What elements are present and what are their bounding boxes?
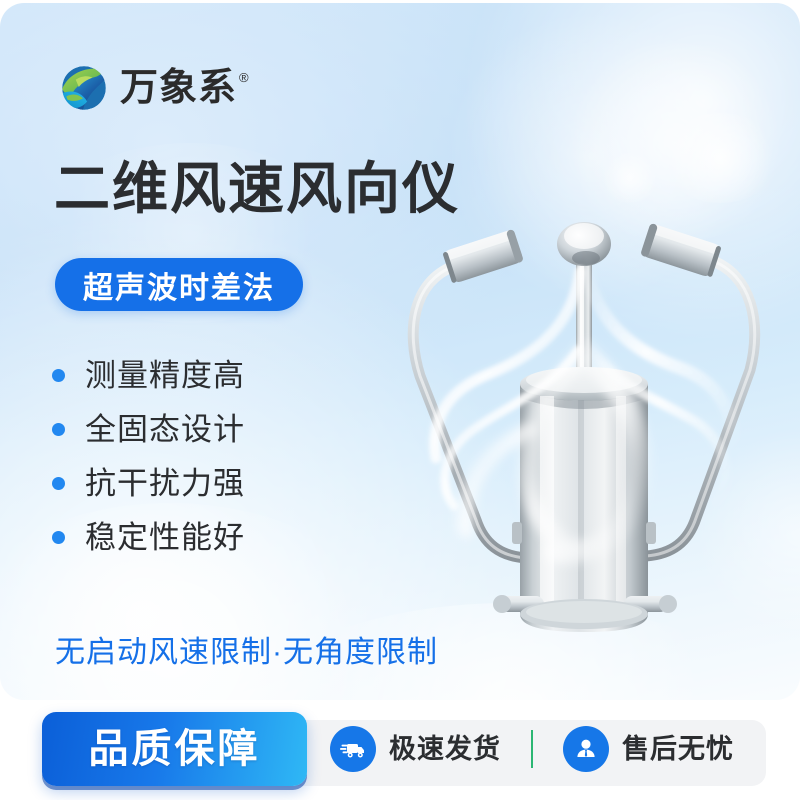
list-item: 稳定性能好 <box>52 522 245 553</box>
brand-name: 万象系 <box>120 69 237 107</box>
list-item: 全固态设计 <box>52 414 245 445</box>
trademark-symbol: ® <box>239 71 249 84</box>
feature-list: 测量精度高 全固态设计 抗干扰力强 稳定性能好 <box>52 360 245 553</box>
bullet-dot-icon <box>52 423 65 436</box>
trust-item-label: 极速发货 <box>389 736 501 763</box>
bullet-dot-icon <box>52 477 65 490</box>
brand-logo: 万象系 ® <box>58 62 249 114</box>
feature-label: 全固态设计 <box>85 414 245 445</box>
cloud-decoration <box>600 153 660 203</box>
delivery-truck-icon <box>330 726 376 772</box>
trust-item-after-sales[interactable]: 售后无忧 <box>563 726 734 772</box>
trust-item-fast-delivery[interactable]: 极速发货 <box>330 726 501 772</box>
cloud-decoration <box>700 423 800 643</box>
brand-wordmark: 万象系 ® <box>120 69 249 107</box>
quality-assurance-label: 品质保障 <box>89 729 261 769</box>
cloud-decoration <box>560 43 790 243</box>
trust-item-label: 售后无忧 <box>622 736 734 763</box>
feature-label: 抗干扰力强 <box>85 468 245 499</box>
customer-service-person-icon <box>563 726 609 772</box>
feature-label: 稳定性能好 <box>85 522 245 553</box>
bullet-dot-icon <box>52 369 65 382</box>
list-item: 抗干扰力强 <box>52 468 245 499</box>
subtitle-badge: 超声波时差法 <box>55 258 303 311</box>
page-title: 二维风速风向仪 <box>54 157 460 221</box>
bullet-dot-icon <box>52 531 65 544</box>
trust-item-list: 极速发货 售后无忧 <box>330 718 734 780</box>
list-item: 测量精度高 <box>52 360 245 391</box>
cloud-decoration <box>660 113 780 203</box>
quality-assurance-badge[interactable]: 品质保障 <box>42 712 307 786</box>
swirl-globe-icon <box>58 62 110 114</box>
product-poster: 万象系 ® 二维风速风向仪 超声波时差法 测量精度高 全固态设计 抗干扰力强 稳… <box>0 0 800 800</box>
feature-label: 测量精度高 <box>85 360 245 391</box>
vertical-divider <box>531 730 533 768</box>
tagline: 无启动风速限制·无角度限制 <box>55 627 438 671</box>
